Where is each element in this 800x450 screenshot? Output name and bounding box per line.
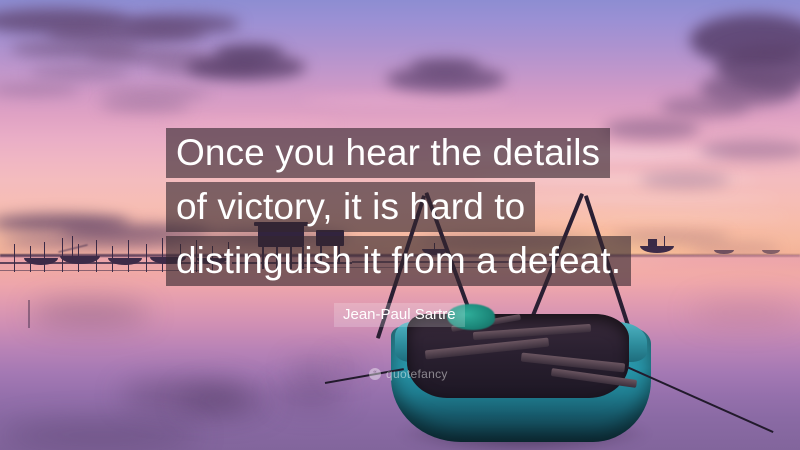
cloud <box>120 14 240 34</box>
cloud <box>700 140 800 160</box>
cloud-streak <box>160 120 340 127</box>
quote-author: Jean-Paul Sartre <box>334 303 465 327</box>
water-reflection <box>290 362 330 378</box>
cloud-streak <box>300 96 510 104</box>
quote-line-1: Once you hear the details <box>166 128 610 178</box>
cloud <box>30 66 130 79</box>
cloud <box>214 44 284 64</box>
fishing-pole <box>128 240 129 272</box>
water-reflection <box>0 420 200 450</box>
quote-line-3: distinguish it from a defeat. <box>166 236 631 286</box>
water-reflection <box>690 300 800 324</box>
cloud <box>660 96 750 118</box>
fishing-pole <box>162 238 163 272</box>
water-reflection <box>30 300 150 326</box>
cloud <box>410 58 480 76</box>
fishing-pole <box>14 244 15 272</box>
water-reflection <box>180 388 270 414</box>
watermark: “ quotefancy <box>369 367 448 381</box>
fishing-pole <box>62 238 63 272</box>
rowboat <box>355 262 675 450</box>
water-reflection <box>276 384 346 406</box>
cloud <box>100 88 210 99</box>
quote-line-2: of victory, it is hard to <box>166 182 535 232</box>
quotefancy-logo-icon: “ <box>369 368 381 380</box>
fishing-pole <box>146 244 147 272</box>
water-pole <box>28 300 30 328</box>
cloud <box>100 100 190 112</box>
quote-text: Once you hear the details of victory, it… <box>166 128 686 290</box>
watermark-brand-label: quotefancy <box>386 367 448 381</box>
quote-card: Once you hear the details of victory, it… <box>0 0 800 450</box>
fishing-pole <box>44 242 45 272</box>
